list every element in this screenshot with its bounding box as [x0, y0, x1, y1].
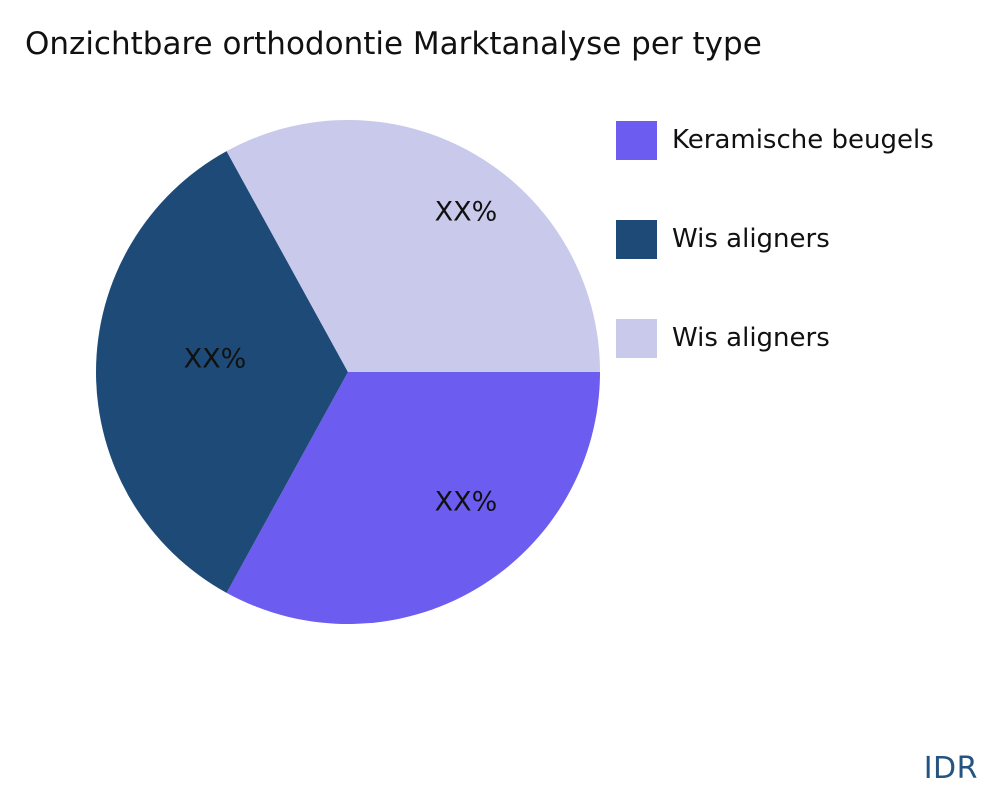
watermark-logo: IDR	[924, 751, 978, 786]
pie-slice-label: XX%	[435, 197, 498, 228]
legend-item[interactable]: Wis aligners	[616, 319, 986, 418]
chart-legend: Keramische beugels Wis aligners Wis alig…	[616, 121, 986, 418]
legend-swatch-wis-aligners-1	[616, 220, 657, 259]
legend-label: Keramische beugels	[672, 121, 934, 160]
pie-svg: XX%XX%XX%	[96, 120, 600, 624]
legend-item[interactable]: Wis aligners	[616, 220, 986, 319]
legend-swatch-keramische-beugels	[616, 121, 657, 160]
pie-slice-label: XX%	[435, 487, 498, 518]
pie-slice-label: XX%	[184, 344, 247, 375]
chart-canvas: Onzichtbare orthodontie Marktanalyse per…	[0, 0, 1000, 800]
legend-swatch-wis-aligners-2	[616, 319, 657, 358]
legend-item[interactable]: Keramische beugels	[616, 121, 986, 220]
chart-title: Onzichtbare orthodontie Marktanalyse per…	[25, 24, 762, 64]
pie-chart: XX%XX%XX%	[96, 120, 600, 624]
pie-slice-group	[96, 120, 600, 624]
legend-label: Wis aligners	[672, 319, 830, 358]
legend-label: Wis aligners	[672, 220, 830, 259]
